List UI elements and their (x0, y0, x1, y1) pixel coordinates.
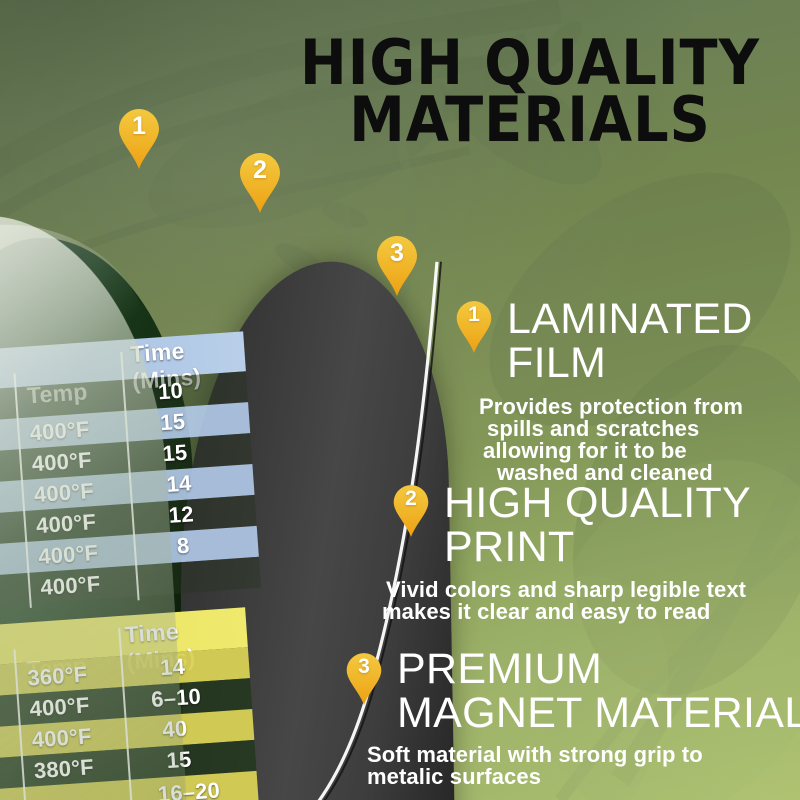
table-cell-time: 12 (168, 501, 195, 529)
feature-desc-3-line-2: metalic surfaces (367, 766, 541, 788)
poster-canvas: ES Temp Time (Mins) 400°F 400°F 400°F 40… (0, 0, 800, 800)
map-pin-icon-2: 2 (238, 152, 282, 214)
feature-pin-number-1: 1 (455, 304, 493, 325)
feature-heading-2-line-2: PRINT (444, 526, 575, 569)
pin-number-3: 3 (375, 241, 419, 266)
table-cell-time: 10 (157, 378, 184, 406)
feature-pin-icon-3: 3 (345, 652, 383, 706)
pin-number-1: 1 (117, 114, 161, 139)
feature-heading-1-line-2: FILM (507, 342, 606, 385)
feature-heading-1-line-1: LAMINATED (507, 298, 753, 341)
feature-pin-icon-2: 2 (392, 484, 430, 538)
feature-pin-number-3: 3 (345, 656, 383, 677)
feature-heading-2-line-1: HIGH QUALITY (444, 482, 751, 525)
map-pin-icon-1: 1 (117, 108, 161, 170)
table-cell-time: 8 (176, 533, 190, 560)
pin-number-2: 2 (238, 158, 282, 183)
feature-desc-2-line-2: makes it clear and easy to read (382, 601, 710, 623)
feature-heading-3-line-2: MAGNET MATERIAL (397, 692, 800, 735)
table-cell-time: 14 (166, 470, 193, 498)
title-line-2: MATERIALS (265, 91, 795, 148)
feature-heading-3-line-1: PREMIUM (397, 648, 602, 691)
page-title: HIGH QUALITY MATERIALS (265, 34, 795, 148)
feature-pin-icon-1: 1 (455, 300, 493, 354)
map-pin-icon-3: 3 (375, 235, 419, 297)
table-cell-time: 15 (159, 409, 186, 437)
feature-pin-number-2: 2 (392, 488, 430, 509)
